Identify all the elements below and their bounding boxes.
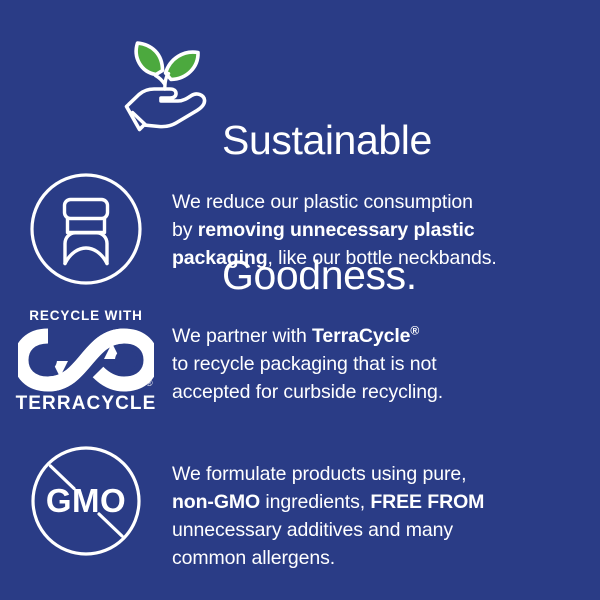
copy-line: packaging, like our bottle neckbands. xyxy=(172,244,584,272)
bottle-in-circle-icon xyxy=(0,172,172,286)
feature-row-plastic: We reduce our plastic consumptionby remo… xyxy=(0,172,600,286)
recycle-infinity-icon: ® xyxy=(18,328,154,392)
copy-line: We formulate products using pure, xyxy=(172,460,584,488)
copy-line: accepted for curbside recycling. xyxy=(172,378,584,406)
feature-text-non-gmo: We formulate products using pure,non-GMO… xyxy=(172,446,600,572)
gmo-label: GMO xyxy=(46,482,126,519)
feature-row-terracycle: RECYCLE WITH ® TERRACYCLE We partner w xyxy=(0,308,600,414)
copy-line: non-GMO ingredients, FREE FROM xyxy=(172,488,584,516)
page-title-line-1: Sustainable xyxy=(222,118,432,163)
terracycle-badge-top-text: RECYCLE WITH xyxy=(29,308,143,324)
copy-line: unnecessary additives and many xyxy=(172,516,584,544)
terracycle-logo-icon: RECYCLE WITH ® TERRACYCLE xyxy=(0,308,172,414)
feature-text-terracycle: We partner with TerraCycle®to recycle pa… xyxy=(172,308,600,406)
no-gmo-icon: GMO xyxy=(0,446,172,556)
sustainable-goodness-infographic: Sustainable Goodness. We reduce our plas… xyxy=(0,0,600,600)
terracycle-badge: RECYCLE WITH ® TERRACYCLE xyxy=(16,308,156,414)
copy-line: common allergens. xyxy=(172,544,584,572)
terracycle-badge-bottom-text: TERRACYCLE xyxy=(16,394,157,414)
copy-line: We reduce our plastic consumption xyxy=(172,188,584,216)
feature-row-non-gmo: GMO We formulate products using pure,non… xyxy=(0,446,600,572)
copy-line: by removing unnecessary plastic xyxy=(172,216,584,244)
feature-text-plastic: We reduce our plastic consumptionby remo… xyxy=(172,172,600,272)
hand-holding-sprout-icon xyxy=(118,32,214,132)
registered-mark-icon: ® xyxy=(146,378,153,388)
copy-line: We partner with TerraCycle® xyxy=(172,322,584,350)
copy-line: to recycle packaging that is not xyxy=(172,350,584,378)
